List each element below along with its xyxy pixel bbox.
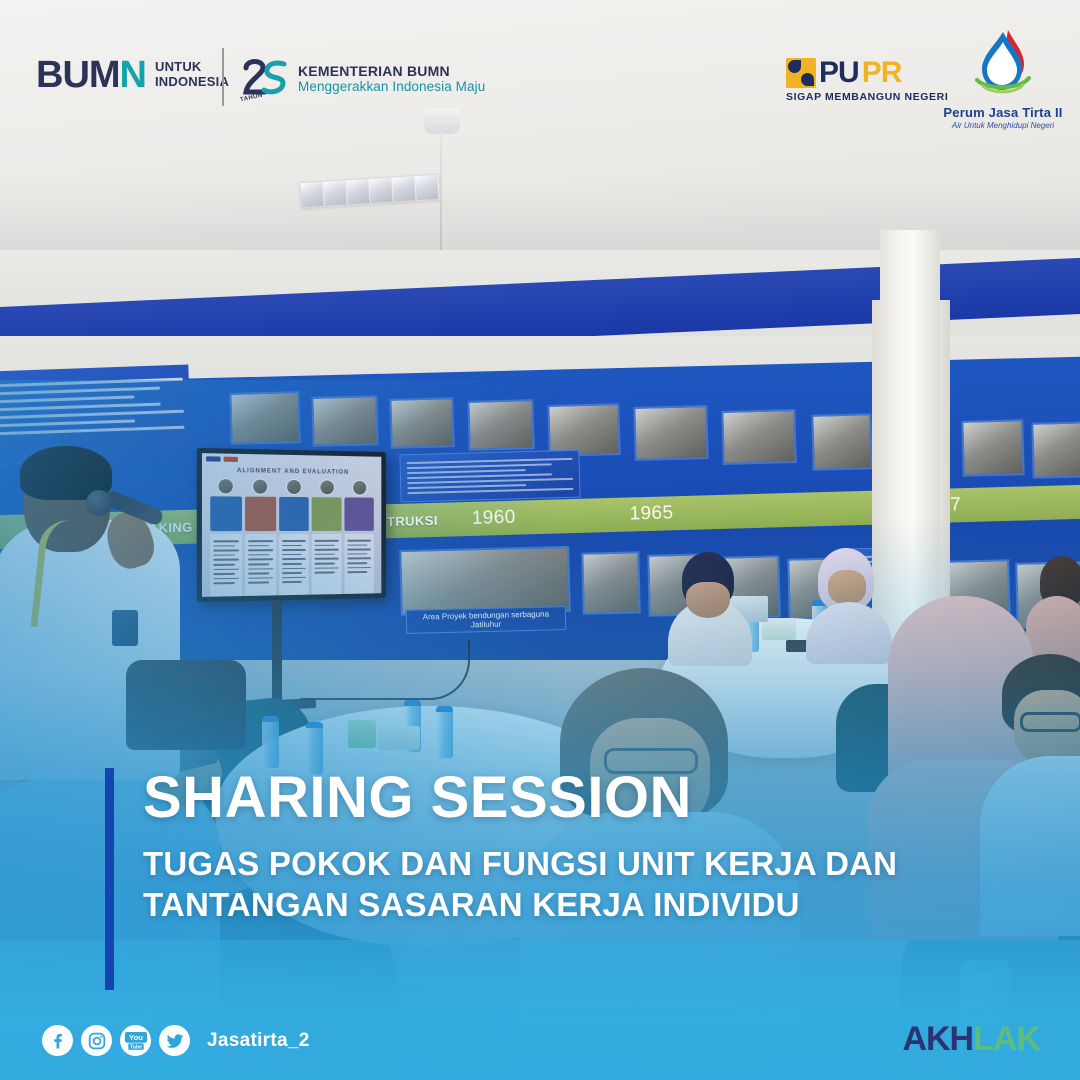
facebook-icon[interactable] <box>42 1025 73 1056</box>
bumn-tagline: UNTUK INDONESIA <box>155 60 229 89</box>
pjt-name: Perum Jasa Tirta II <box>938 105 1068 120</box>
akhlak-part-green: LAK <box>973 1020 1040 1058</box>
bumn-mark-teal: N <box>120 54 146 96</box>
svg-text:Tube: Tube <box>130 1044 142 1050</box>
bumn-tagline-line2: INDONESIA <box>155 75 229 90</box>
pupr-tagline: SIGAP MEMBANGUN NEGERI <box>786 91 948 103</box>
title-accent-bar <box>105 768 114 990</box>
kementerian-bumn-logo: TAHUN KEMENTERIAN BUMN Menggerakkan Indo… <box>240 56 485 100</box>
social-media-bar: You Tube Jasatirta_2 <box>42 1025 310 1056</box>
twitter-icon[interactable] <box>159 1025 190 1056</box>
kementerian-subtitle: Menggerakkan Indonesia Maju <box>298 79 485 94</box>
bumn-untuk-indonesia-logo: BUMN UNTUK INDONESIA <box>36 56 229 94</box>
logo-divider <box>222 48 224 106</box>
social-handle: Jasatirta_2 <box>207 1030 310 1052</box>
poster-subtitle-line1: TUGAS POKOK DAN FUNGSI UNIT KERJA DAN <box>143 844 897 885</box>
poster-header: BUMN UNTUK INDONESIA TAHUN KEMENTERIAN B… <box>0 0 1080 150</box>
poster-main-title: SHARING SESSION <box>143 768 897 828</box>
pupr-pu-text: PU <box>819 58 859 88</box>
perum-jasa-tirta-logo: Perum Jasa Tirta II Air Untuk Menghidupi… <box>938 28 1068 130</box>
title-block: SHARING SESSION TUGAS POKOK DAN FUNGSI U… <box>105 768 897 926</box>
pjt-slogan: Air Untuk Menghidupi Negeri <box>938 121 1068 130</box>
bumn-wordmark: BUMN <box>36 56 146 94</box>
bumn-tagline-line1: UNTUK <box>155 60 229 75</box>
akhlak-logo: AKHLAK <box>902 1022 1040 1056</box>
poster-footer: You Tube Jasatirta_2 AKHLAK <box>0 984 1080 1080</box>
poster-canvas: BREAKING 1957 MASA KONSTRUKSI 1960 1965 … <box>0 0 1080 1080</box>
bumn-mark-dark: BUM <box>36 54 120 96</box>
poster-subtitle: TUGAS POKOK DAN FUNGSI UNIT KERJA DAN TA… <box>143 844 897 926</box>
poster-subtitle-line2: TANTANGAN SASARAN KERJA INDIVIDU <box>143 885 897 926</box>
akhlak-part-dark: AKH <box>902 1020 973 1058</box>
kementerian-text: KEMENTERIAN BUMN Menggerakkan Indonesia … <box>298 63 485 94</box>
pupr-pr-text: PR <box>862 58 902 88</box>
pupr-emblem-icon <box>786 58 816 88</box>
anniversary-25-icon: TAHUN <box>240 56 288 100</box>
svg-text:You: You <box>129 1033 143 1042</box>
water-drop-icon <box>974 28 1032 102</box>
pupr-logo: PU PR SIGAP MEMBANGUN NEGERI <box>786 58 948 103</box>
kementerian-title: KEMENTERIAN BUMN <box>298 63 485 79</box>
instagram-icon[interactable] <box>81 1025 112 1056</box>
youtube-icon[interactable]: You Tube <box>120 1025 151 1056</box>
